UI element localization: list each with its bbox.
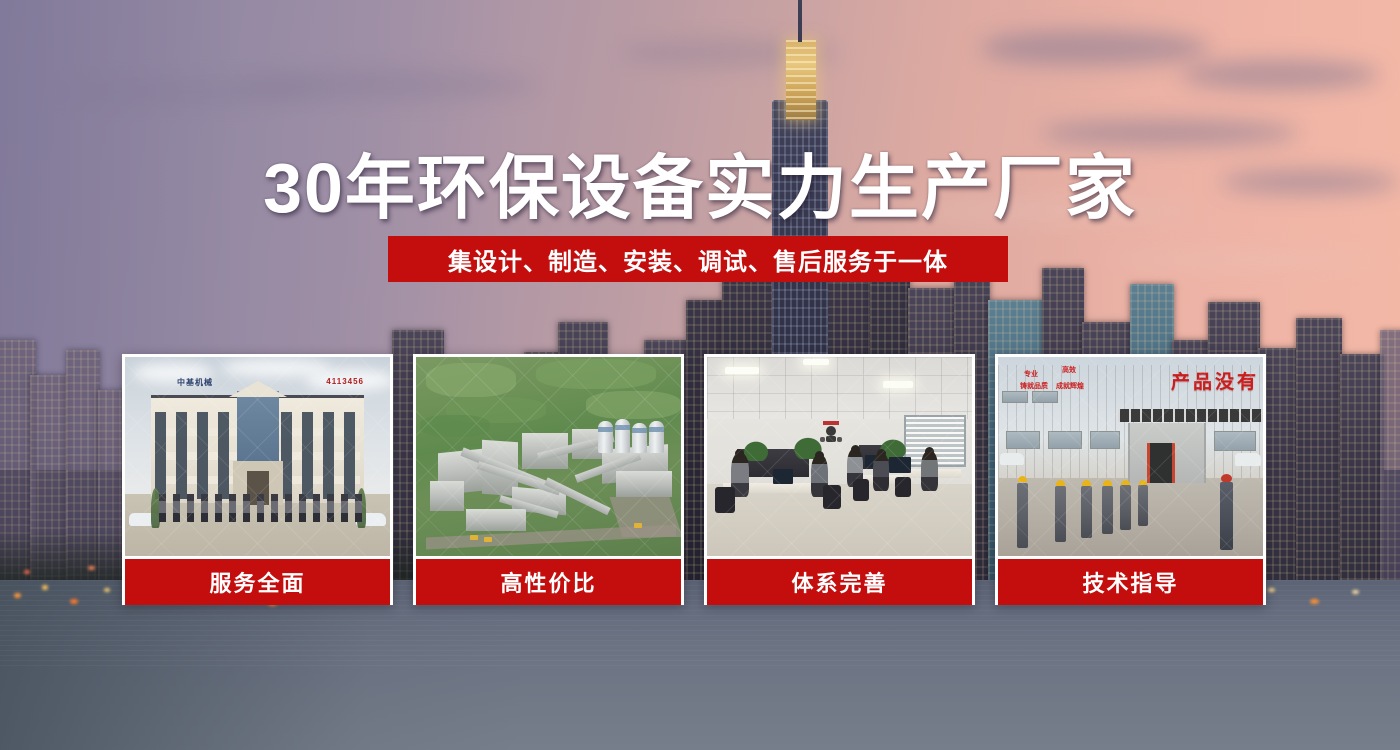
factory-wall-text-small-1: 专业: [1024, 371, 1038, 380]
subtitle-text: 集设计、制造、安装、调试、售后服务于一体: [448, 242, 948, 277]
card-photo-aerial-plant: [416, 357, 681, 556]
building-phone-text: 4113456: [326, 377, 364, 386]
feature-card[interactable]: 高性价比: [413, 354, 684, 605]
card-photo-worker-training: 产品没有 专业 铸就品质 高效 成就辉煌: [998, 357, 1263, 556]
feature-card[interactable]: 中基机械 4113456: [122, 354, 393, 605]
card-caption-bar: 服务全面: [125, 559, 390, 605]
promo-banner: 30年环保设备实力生产厂家 集设计、制造、安装、调试、售后服务于一体 中基机械 …: [0, 0, 1400, 750]
card-caption-bar: 体系完善: [707, 559, 972, 605]
feature-card-list: 中基机械 4113456: [122, 354, 1266, 605]
subtitle-bar: 集设计、制造、安装、调试、售后服务于一体: [388, 236, 1008, 282]
card-caption-text: 高性价比: [500, 566, 596, 598]
card-caption-bar: 高性价比: [416, 559, 681, 605]
factory-wall-text-small-2: 铸就品质: [1020, 383, 1048, 392]
card-caption-text: 体系完善: [791, 566, 887, 598]
feature-card[interactable]: 体系完善: [704, 354, 975, 605]
card-caption-bar: 技术指导: [998, 559, 1263, 605]
building-sign-text: 中基机械: [177, 377, 213, 388]
card-photo-office-building: 中基机械 4113456: [125, 357, 390, 556]
page-title: 30年环保设备实力生产厂家: [0, 132, 1400, 233]
tower-crown-lights: [786, 40, 816, 120]
tower-spire: [798, 0, 802, 42]
factory-wall-text-small-4: 成就辉煌: [1056, 383, 1084, 392]
card-caption-text: 服务全面: [209, 566, 305, 598]
factory-wall-text-small-3: 高效: [1062, 367, 1076, 376]
feature-card[interactable]: 产品没有 专业 铸就品质 高效 成就辉煌: [995, 354, 1266, 605]
card-photo-office-interior: [707, 357, 972, 556]
card-caption-text: 技术指导: [1082, 566, 1178, 598]
factory-wall-text: 产品没有: [1171, 367, 1259, 394]
